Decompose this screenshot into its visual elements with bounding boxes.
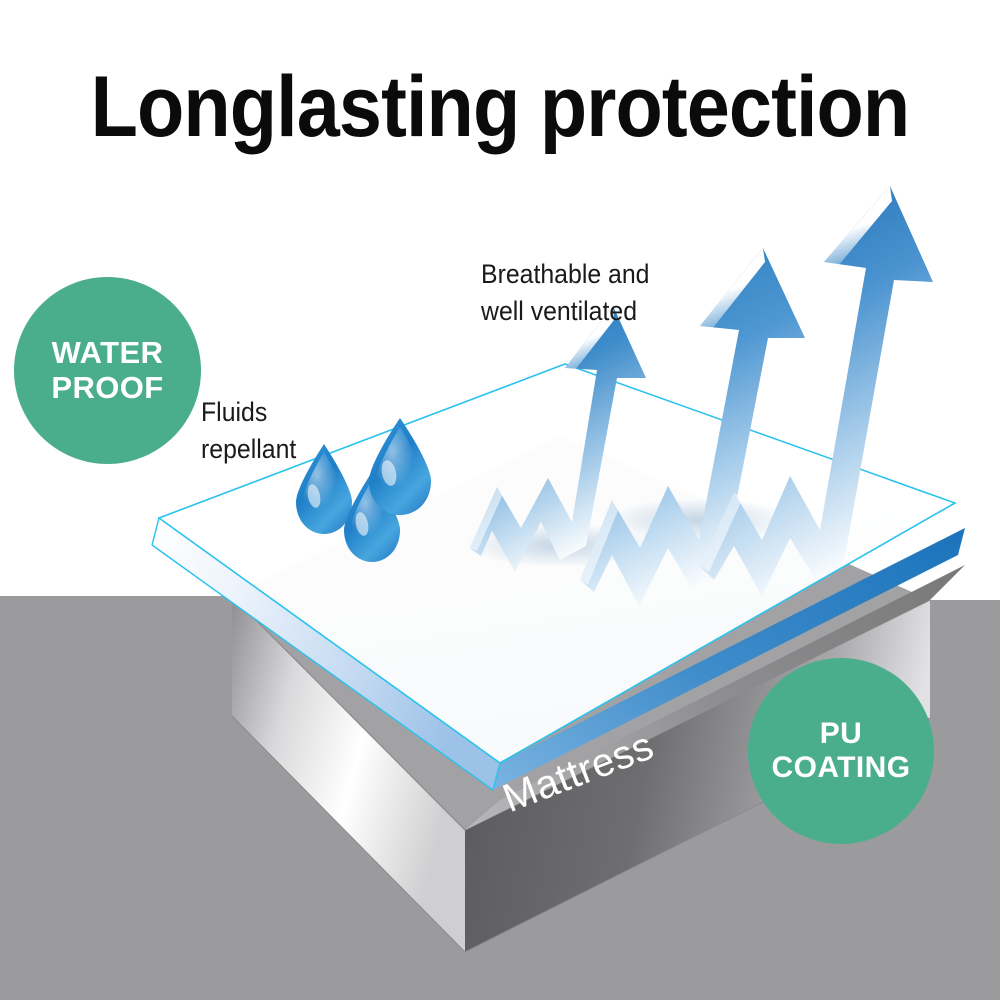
callout-fluids: Fluids repellant: [201, 394, 296, 469]
badge-pu-coating-line1: PU: [772, 717, 911, 751]
callout-breathable-line1: Breathable and: [481, 256, 650, 293]
callout-fluids-line1: Fluids: [201, 394, 296, 431]
badge-pu-coating-line2: COATING: [772, 751, 911, 785]
badge-waterproof: WATER PROOF: [14, 277, 201, 464]
badge-waterproof-line1: WATER: [51, 336, 163, 371]
badge-pu-coating: PU COATING: [748, 658, 934, 844]
callout-breathable: Breathable and well ventilated: [481, 256, 650, 331]
badge-waterproof-line2: PROOF: [51, 371, 163, 406]
callout-breathable-line2: well ventilated: [481, 293, 650, 330]
page-title: Longlasting protection: [50, 62, 950, 152]
infographic-canvas: Longlasting protection Breathable and we…: [0, 0, 1000, 1000]
callout-fluids-line2: repellant: [201, 431, 296, 468]
